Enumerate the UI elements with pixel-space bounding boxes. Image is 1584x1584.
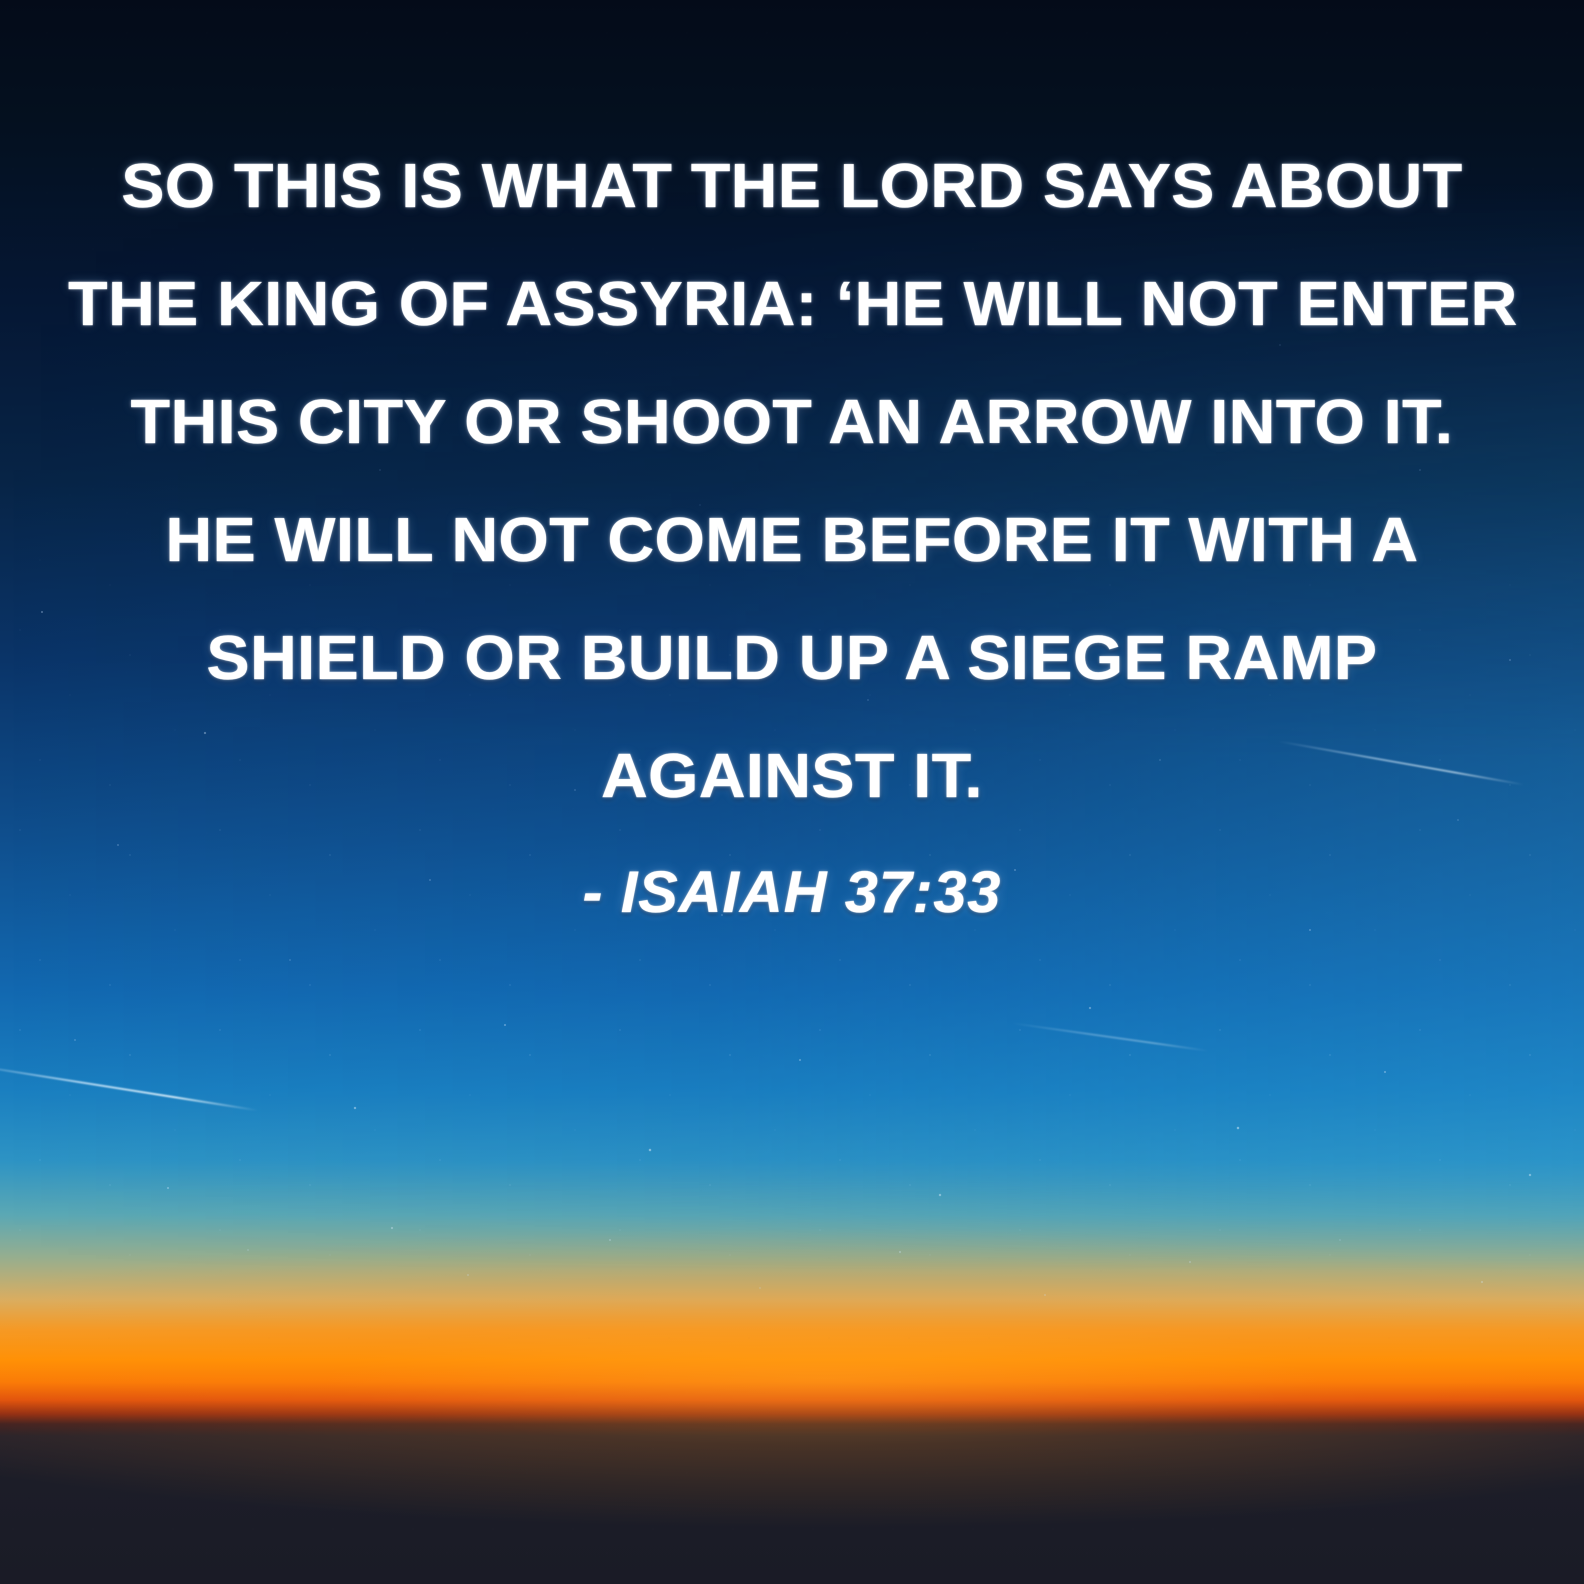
verse-line-2: the king of Assyria: ‘He will not enter — [68, 246, 1516, 364]
verse-attribution: - Isaiah 37:33 — [82, 850, 1502, 936]
meteor-trail-left-icon — [0, 1063, 258, 1112]
verse-line-6: against it. — [68, 718, 1516, 836]
verse-line-1: So this is what the LORD says about — [68, 128, 1516, 246]
meteor-trail-upper-icon — [1011, 1022, 1209, 1052]
verse-line-3: this city or shoot an arrow into it. — [68, 364, 1516, 482]
verse-line-4: He will not come before it with a — [68, 482, 1516, 600]
verse-line-5: shield or build up a siege ramp — [68, 600, 1516, 718]
quote-card: So this is what the LORD says about the … — [0, 0, 1584, 1584]
verse-text-block: So this is what the LORD says about the … — [0, 128, 1584, 936]
